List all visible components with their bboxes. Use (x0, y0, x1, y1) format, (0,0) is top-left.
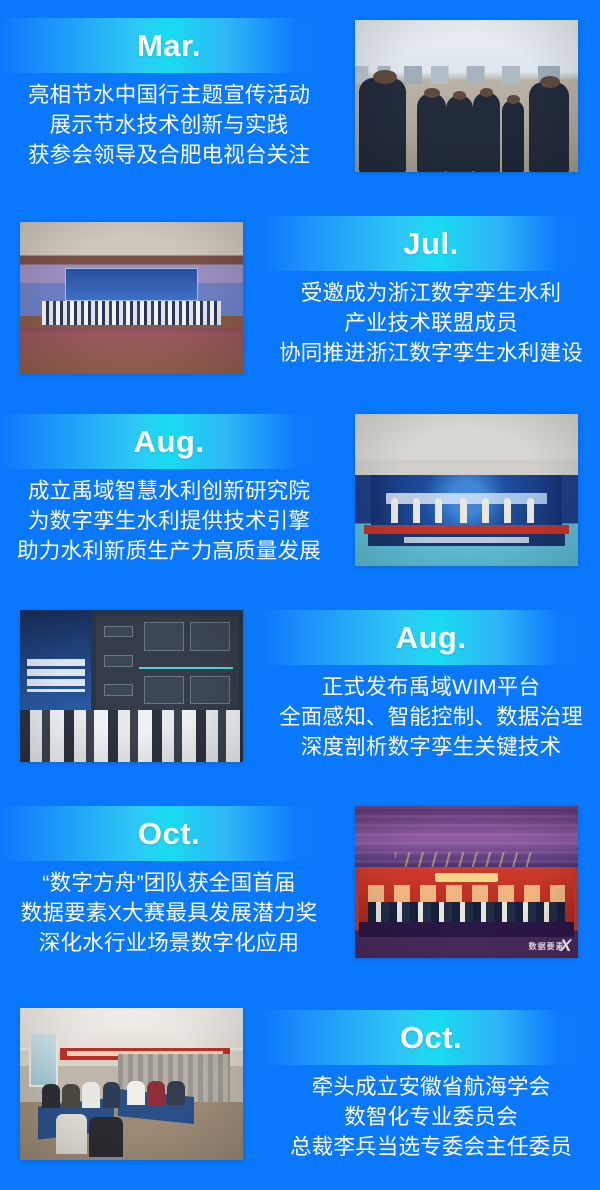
entry-text: “数字方舟”团队获全国首届 数据要素X大赛最具发展潜力奖 深化水行业场景数字化应… (0, 868, 338, 958)
photo-watermark-x-icon: X (560, 936, 571, 956)
month-band: Oct. (0, 806, 338, 861)
month-label: Jul. (403, 228, 458, 259)
entry-text-line: 牵头成立安徽省航海学会 (262, 1072, 600, 1102)
entry-text: 正式发布禹域WIM平台 全面感知、智能控制、数据治理 深度剖析数字孪生关键技术 (262, 672, 600, 762)
entry-text: 亮相节水中国行主题宣传活动 展示节水技术创新与实践 获参会领导及合肥电视台关注 (0, 80, 338, 170)
timeline-entry: Oct. 牵头成立安徽省航海学会 数智化专业委员会 总裁李兵当选专委会主任委员 (0, 980, 600, 1190)
month-band: Mar. (0, 18, 338, 73)
timeline-entry: Oct. “数字方舟”团队获全国首届 数据要素X大赛最具发展潜力奖 深化水行业场… (0, 784, 600, 980)
entry-text-line: 深度剖析数字孪生关键技术 (262, 732, 600, 762)
entry-text: 牵头成立安徽省航海学会 数智化专业委员会 总裁李兵当选专委会主任委员 (262, 1072, 600, 1162)
entry-text-line: 数智化专业委员会 (262, 1102, 600, 1132)
month-label: Oct. (138, 818, 200, 849)
entry-text-line: 获参会领导及合肥电视台关注 (0, 140, 338, 170)
entry-text-line: 助力水利新质生产力高质量发展 (0, 536, 338, 566)
entry-text-line: 协同推进浙江数字孪生水利建设 (262, 338, 600, 368)
month-label: Aug. (396, 622, 467, 653)
entry-text-line: 受邀成为浙江数字孪生水利 (262, 278, 600, 308)
photo-forum-keynote (20, 610, 243, 762)
entry-text-line: 深化水行业场景数字化应用 (0, 928, 338, 958)
month-label: Mar. (137, 30, 201, 61)
entry-text-line: “数字方舟”团队获全国首届 (0, 868, 338, 898)
entry-text-line: 展示节水技术创新与实践 (0, 110, 338, 140)
entry-text-line: 总裁李兵当选专委会主任委员 (262, 1132, 600, 1162)
month-band: Oct. (262, 1010, 600, 1065)
month-label: Aug. (134, 426, 205, 457)
timeline-infographic: Mar. 亮相节水中国行主题宣传活动 展示节水技术创新与实践 获参会领导及合肥电… (0, 0, 600, 1190)
entry-text-line: 为数字孪生水利提供技术引擎 (0, 506, 338, 536)
photo-award-ceremony-red-stage: 数据要素 X (355, 806, 578, 958)
photo-outdoor-delegation (355, 20, 578, 172)
photo-committee-meeting (20, 1008, 243, 1160)
timeline-entry: Jul. 受邀成为浙江数字孪生水利 产业技术联盟成员 协同推进浙江数字孪生水利建… (0, 196, 600, 392)
photo-auditorium-ceremony (20, 222, 243, 374)
entry-text-line: 正式发布禹域WIM平台 (262, 672, 600, 702)
photo-institute-launch-stage (355, 414, 578, 566)
month-band: Aug. (262, 610, 600, 665)
entry-text-line: 产业技术联盟成员 (262, 308, 600, 338)
entry-text-line: 成立禹域智慧水利创新研究院 (0, 476, 338, 506)
entry-text: 成立禹域智慧水利创新研究院 为数字孪生水利提供技术引擎 助力水利新质生产力高质量… (0, 476, 338, 566)
timeline-entry: Aug. 成立禹域智慧水利创新研究院 为数字孪生水利提供技术引擎 助力水利新质生… (0, 392, 600, 588)
month-band: Aug. (0, 414, 338, 469)
entry-text-line: 数据要素X大赛最具发展潜力奖 (0, 898, 338, 928)
entry-text-line: 亮相节水中国行主题宣传活动 (0, 80, 338, 110)
timeline-entry: Mar. 亮相节水中国行主题宣传活动 展示节水技术创新与实践 获参会领导及合肥电… (0, 0, 600, 196)
entry-text: 受邀成为浙江数字孪生水利 产业技术联盟成员 协同推进浙江数字孪生水利建设 (262, 278, 600, 368)
entry-text-line: 全面感知、智能控制、数据治理 (262, 702, 600, 732)
timeline-entry: Aug. 正式发布禹域WIM平台 全面感知、智能控制、数据治理 深度剖析数字孪生… (0, 588, 600, 784)
month-band: Jul. (262, 216, 600, 271)
month-label: Oct. (400, 1022, 462, 1053)
